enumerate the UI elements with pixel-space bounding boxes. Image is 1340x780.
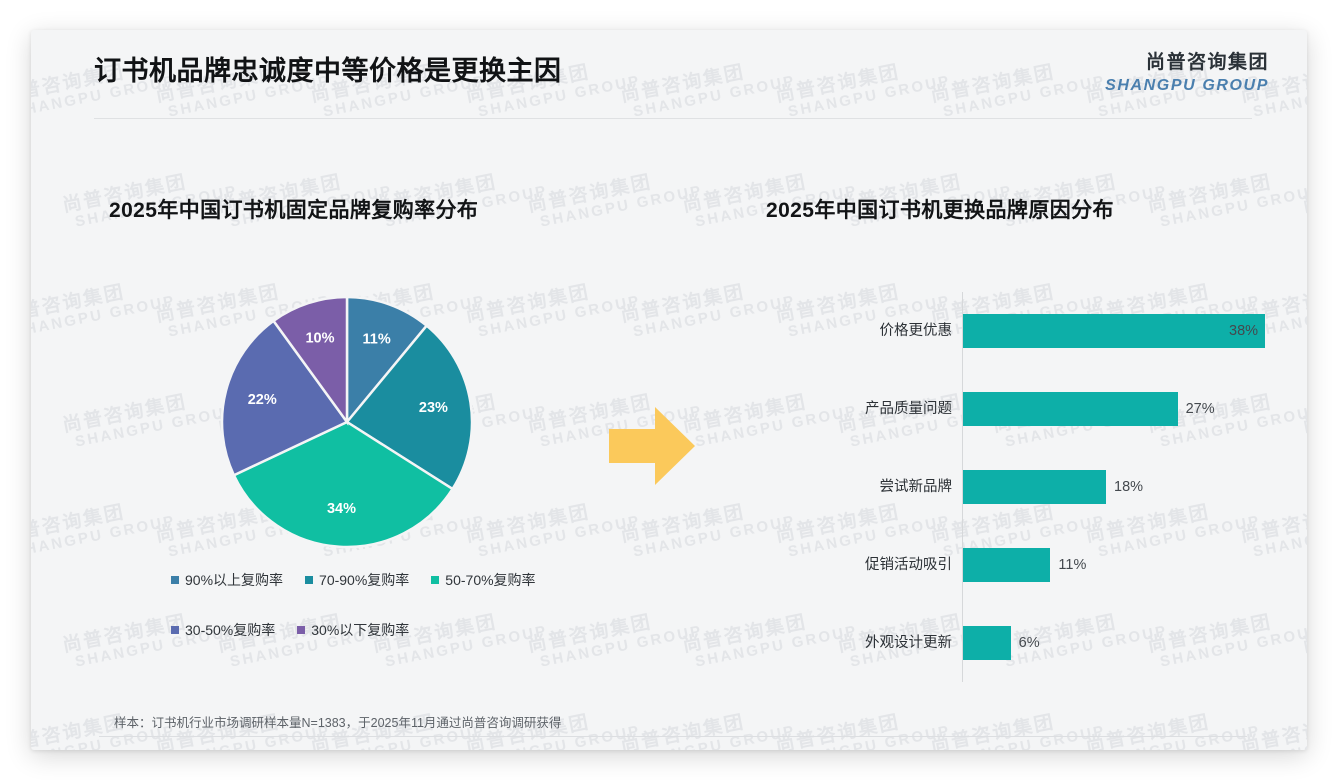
watermark-text: 尚普咨询集团SHANGPU GROUP [1301, 384, 1307, 452]
watermark-cn: 尚普咨询集团 [1301, 604, 1307, 657]
slide-footer: ©2026.1 SHANGPU GROUP www.shangpu-china.… [31, 742, 1307, 750]
bar-row: 价格更优惠38% [766, 314, 1276, 348]
bar-chart: 价格更优惠38%产品质量问题27%尝试新品牌18%促销活动吸引11%外观设计更新… [766, 292, 1276, 692]
watermark-cn: 尚普咨询集团 [464, 274, 639, 327]
watermark-en: SHANGPU GROUP [74, 403, 239, 450]
source-divider [99, 736, 1247, 737]
right-arrow-icon [609, 405, 695, 487]
bar-value-label: 11% [1058, 548, 1086, 582]
legend-swatch-icon [171, 576, 179, 584]
pie-legend-item[interactable]: 70-90%复购率 [305, 570, 409, 590]
pie-chart: 11%23%34%22%10% [218, 293, 476, 551]
watermark-text: 尚普咨询集团SHANGPU GROUP [1146, 164, 1307, 232]
watermark-en: SHANGPU GROUP [539, 183, 704, 230]
right-arrow-svg [609, 405, 695, 487]
bar-row: 促销活动吸引11% [766, 548, 1276, 582]
legend-swatch-icon [171, 626, 179, 634]
bar-category-label: 促销活动吸引 [766, 548, 952, 582]
watermark-en: SHANGPU GROUP [477, 513, 642, 560]
watermark-cn: 尚普咨询集团 [31, 274, 174, 327]
slide-card: 尚普咨询集团SHANGPU GROUP尚普咨询集团SHANGPU GROUP尚普… [31, 30, 1307, 750]
brand-logo: 尚普咨询集团 SHANGPU GROUP [1105, 52, 1269, 95]
pie-legend-label: 70-90%复购率 [319, 570, 409, 590]
bar-category-label: 产品质量问题 [766, 392, 952, 426]
pie-legend-item[interactable]: 50-70%复购率 [431, 570, 535, 590]
pie-legend-row: 90%以上复购率70-90%复购率50-70%复购率 [171, 570, 601, 590]
bar-fill[interactable] [963, 470, 1106, 504]
pie-legend-item[interactable]: 30%以下复购率 [297, 620, 409, 640]
watermark-text: 尚普咨询集团SHANGPU GROUP [31, 494, 177, 562]
left-chart-title: 2025年中国订书机固定品牌复购率分布 [109, 194, 478, 224]
watermark-text: 尚普咨询集团SHANGPU GROUP [1301, 164, 1307, 232]
bar-fill[interactable] [963, 626, 1011, 660]
watermark-cn: 尚普咨询集团 [1301, 384, 1307, 437]
legend-swatch-icon [305, 576, 313, 584]
watermark-text: 尚普咨询集团SHANGPU GROUP [1301, 604, 1307, 672]
brand-logo-cn: 尚普咨询集团 [1105, 52, 1269, 75]
watermark-en: SHANGPU GROUP [31, 513, 177, 560]
pie-slice-label: 22% [248, 392, 277, 408]
pie-legend: 90%以上复购率70-90%复购率50-70%复购率30-50%复购率30%以下… [171, 570, 601, 670]
pie-slice-label: 10% [305, 331, 334, 347]
bar-category-label: 尝试新品牌 [766, 470, 952, 504]
bar-value-label: 27% [1186, 392, 1215, 426]
right-chart-title: 2025年中国订书机更换品牌原因分布 [766, 194, 1114, 224]
legend-swatch-icon [431, 576, 439, 584]
bar-value-label: 18% [1114, 470, 1143, 504]
bar-value-label: 38% [1229, 314, 1258, 348]
watermark-en: SHANGPU GROUP [1159, 183, 1307, 230]
pie-legend-label: 50-70%复购率 [445, 570, 535, 590]
watermark-text: 尚普咨询集团SHANGPU GROUP [31, 274, 177, 342]
pie-slice-label: 34% [327, 501, 356, 517]
slide-header: 订书机品牌忠诚度中等价格是更换主因 尚普咨询集团 SHANGPU GROUP [31, 30, 1307, 108]
bar-row: 产品质量问题27% [766, 392, 1276, 426]
watermark-cn: 尚普咨询集团 [61, 384, 236, 437]
pie-legend-label: 90%以上复购率 [185, 570, 283, 590]
watermark-cn: 尚普咨询集团 [526, 164, 701, 217]
source-note: 样本：订书机行业市场调研样本量N=1383，于2025年11月通过尚普咨询调研获… [114, 712, 561, 731]
pie-slice-label: 23% [419, 400, 448, 416]
bar-value-label: 6% [1019, 626, 1040, 660]
page-title: 订书机品牌忠诚度中等价格是更换主因 [94, 49, 562, 88]
bar-row: 尝试新品牌18% [766, 470, 1276, 504]
watermark-cn: 尚普咨询集团 [31, 494, 174, 547]
watermark-cn: 尚普咨询集团 [1146, 164, 1307, 217]
watermark-text: 尚普咨询集团SHANGPU GROUP [61, 384, 239, 452]
watermark-cn: 尚普咨询集团 [1301, 164, 1307, 217]
pie-slice-label: 11% [363, 332, 391, 348]
bar-fill[interactable] [963, 314, 1265, 348]
bar-category-label: 外观设计更新 [766, 626, 952, 660]
pie-legend-item[interactable]: 90%以上复购率 [171, 570, 283, 590]
watermark-text: 尚普咨询集团SHANGPU GROUP [464, 494, 642, 562]
pie-legend-label: 30-50%复购率 [185, 620, 275, 640]
header-divider [94, 118, 1252, 119]
pie-legend-row: 30-50%复购率30%以下复购率 [171, 620, 601, 640]
watermark-text: 尚普咨询集团SHANGPU GROUP [526, 164, 704, 232]
watermark-en: SHANGPU GROUP [477, 293, 642, 340]
pie-legend-label: 30%以下复购率 [311, 620, 409, 640]
bar-fill[interactable] [963, 392, 1178, 426]
watermark-text: 尚普咨询集团SHANGPU GROUP [464, 274, 642, 342]
pie-legend-item[interactable]: 30-50%复购率 [171, 620, 275, 640]
bar-category-label: 价格更优惠 [766, 314, 952, 348]
bar-fill[interactable] [963, 548, 1050, 582]
bar-row: 外观设计更新6% [766, 626, 1276, 660]
pie-chart-svg: 11%23%34%22%10% [218, 293, 476, 551]
brand-logo-en: SHANGPU GROUP [1105, 76, 1269, 95]
legend-swatch-icon [297, 626, 305, 634]
watermark-en: SHANGPU GROUP [31, 293, 177, 340]
watermark-cn: 尚普咨询集团 [464, 494, 639, 547]
